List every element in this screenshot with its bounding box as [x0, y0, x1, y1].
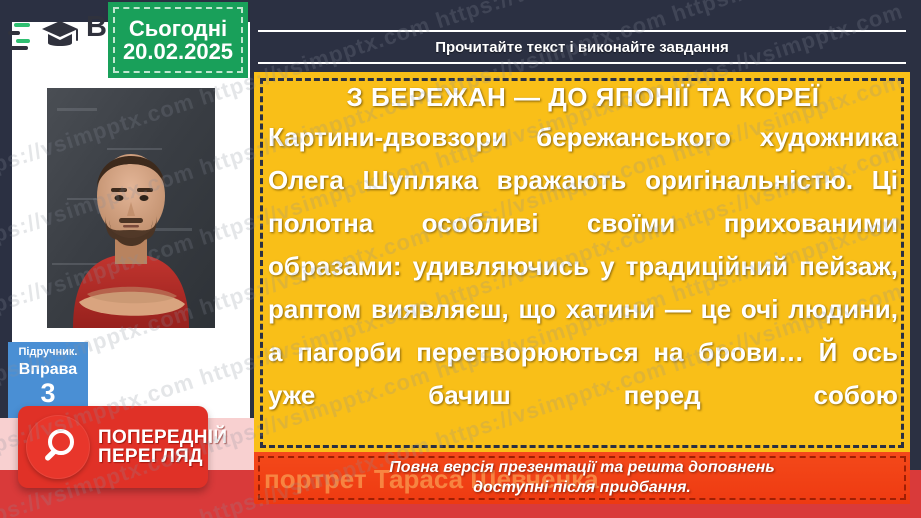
magnifier-icon — [26, 415, 90, 479]
caption-line-2: Вправа — [8, 360, 88, 379]
graduation-cap-icon — [40, 16, 80, 54]
banner-line-1: Повна версія презентації та решта доповн… — [389, 458, 775, 478]
task-header-bar: Прочитайте текст і виконайте завдання — [258, 30, 906, 64]
preview-badge-text: ПОПЕРЕДНІЙ ПЕРЕГЛЯД — [98, 428, 227, 467]
page-title: Прочитайте текст і виконайте завдання — [435, 39, 729, 56]
reading-text-box: З БЕРЕЖАН — ДО ЯПОНІЇ ТА КОРЕЇ Картини-д… — [254, 72, 910, 454]
preview-badge[interactable]: ПОПЕРЕДНІЙ ПЕРЕГЛЯД — [18, 406, 208, 488]
portrait-photo — [47, 88, 215, 328]
purchase-notice-banner: портрет Тараса Шевченка Повна версія пре… — [254, 452, 910, 504]
banner-text: Повна версія презентації та решта доповн… — [254, 452, 910, 504]
slide-canvas: BCIM pptx Сьогодні 20.02.2025 — [0, 0, 921, 518]
reading-title: З БЕРЕЖАН — ДО ЯПОНІЇ ТА КОРЕЇ — [268, 82, 898, 113]
caption-line-3: 3 — [8, 379, 88, 409]
caption-line-1: Підручник. — [8, 346, 88, 359]
speed-lines-icon — [8, 18, 36, 52]
date-badge-label: Сьогодні — [129, 17, 227, 40]
reading-body: Картини-двовзори бережанського художника… — [268, 116, 898, 454]
date-badge: Сьогодні 20.02.2025 — [108, 2, 248, 78]
preview-line-1: ПОПЕРЕДНІЙ — [98, 428, 227, 447]
banner-line-2: доступні після придбання. — [473, 478, 691, 498]
date-badge-date: 20.02.2025 — [123, 40, 233, 63]
preview-line-2: ПЕРЕГЛЯД — [98, 447, 227, 466]
